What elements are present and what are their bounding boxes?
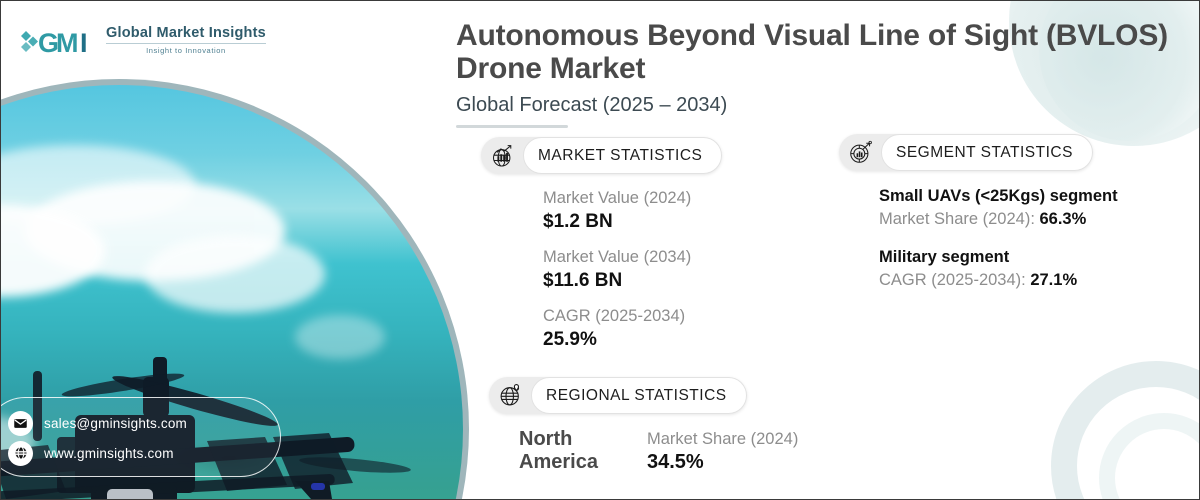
- gmi-logo-icon: G M I: [19, 25, 97, 55]
- regional-statistics-section: REGIONAL STATISTICS North America Market…: [489, 377, 798, 474]
- region-metric-value: 34.5%: [647, 450, 798, 474]
- segment-1-metric-value: 66.3%: [1040, 210, 1087, 228]
- email-text: sales@gminsights.com: [44, 416, 187, 431]
- svg-text:I: I: [80, 28, 88, 55]
- segment-2-title: Military segment: [879, 246, 1118, 268]
- infographic-canvas: sales@gminsights.com www.gminsights.com: [0, 0, 1200, 500]
- segment-2-metric-value: 27.1%: [1030, 271, 1077, 289]
- regional-statistics-badge[interactable]: REGIONAL STATISTICS: [489, 377, 747, 414]
- page-title: Autonomous Beyond Visual Line of Sight (…: [456, 19, 1187, 85]
- market-statistics-badge[interactable]: MARKET STATISTICS: [481, 137, 722, 174]
- contact-email-row[interactable]: sales@gminsights.com: [8, 408, 280, 438]
- segment-statistics-section: SEGMENT STATISTICS Small UAVs (<25Kgs) s…: [839, 134, 1118, 292]
- globe-pin-icon: [489, 377, 531, 414]
- segment-statistics-list: Small UAVs (<25Kgs) segment Market Share…: [839, 185, 1118, 292]
- pie-chart-target-icon: [839, 134, 881, 171]
- market-value-2024-label: Market Value (2024): [543, 188, 722, 209]
- segment-2-metric: CAGR (2025-2034): 27.1%: [879, 268, 1118, 292]
- regional-statistics-label: REGIONAL STATISTICS: [531, 377, 747, 414]
- segment-1-title: Small UAVs (<25Kgs) segment: [879, 185, 1118, 207]
- market-statistics-section: MARKET STATISTICS Market Value (2024) $1…: [481, 137, 722, 352]
- brand-logo[interactable]: G M I Global Market Insights Insight to …: [19, 25, 266, 55]
- contact-website-row[interactable]: www.gminsights.com: [8, 438, 280, 468]
- title-divider: [456, 125, 568, 128]
- brand-tagline: Insight to Innovation: [106, 44, 266, 55]
- contact-pill: sales@gminsights.com www.gminsights.com: [0, 397, 281, 477]
- market-statistics-list: Market Value (2024) $1.2 BN Market Value…: [481, 188, 722, 352]
- globe-icon: [8, 441, 33, 466]
- svg-text:M: M: [56, 28, 79, 55]
- page-subtitle: Global Forecast (2025 – 2034): [456, 94, 1187, 117]
- region-metric-label: Market Share (2024): [647, 428, 798, 450]
- segment-1-metric-label: Market Share (2024):: [879, 210, 1040, 228]
- market-statistics-label: MARKET STATISTICS: [523, 137, 722, 174]
- market-value-2024-value: $1.2 BN: [543, 210, 722, 234]
- segment-1-metric: Market Share (2024): 66.3%: [879, 207, 1118, 231]
- segment-statistics-badge[interactable]: SEGMENT STATISTICS: [839, 134, 1093, 171]
- envelope-icon: [8, 411, 33, 436]
- market-value-2034-label: Market Value (2034): [543, 247, 722, 268]
- cagr-label: CAGR (2025-2034): [543, 306, 722, 327]
- website-text: www.gminsights.com: [44, 446, 174, 461]
- cagr-value: 25.9%: [543, 328, 722, 352]
- region-name: North America: [519, 428, 629, 474]
- market-value-2034-value: $11.6 BN: [543, 269, 722, 293]
- brand-name: Global Market Insights: [106, 26, 266, 45]
- content-area: Autonomous Beyond Visual Line of Sight (…: [456, 19, 1187, 491]
- segment-statistics-label: SEGMENT STATISTICS: [881, 134, 1093, 171]
- regional-statistics-row: North America Market Share (2024) 34.5%: [489, 428, 798, 474]
- globe-bar-chart-icon: [481, 137, 523, 174]
- segment-2-metric-label: CAGR (2025-2034):: [879, 271, 1030, 289]
